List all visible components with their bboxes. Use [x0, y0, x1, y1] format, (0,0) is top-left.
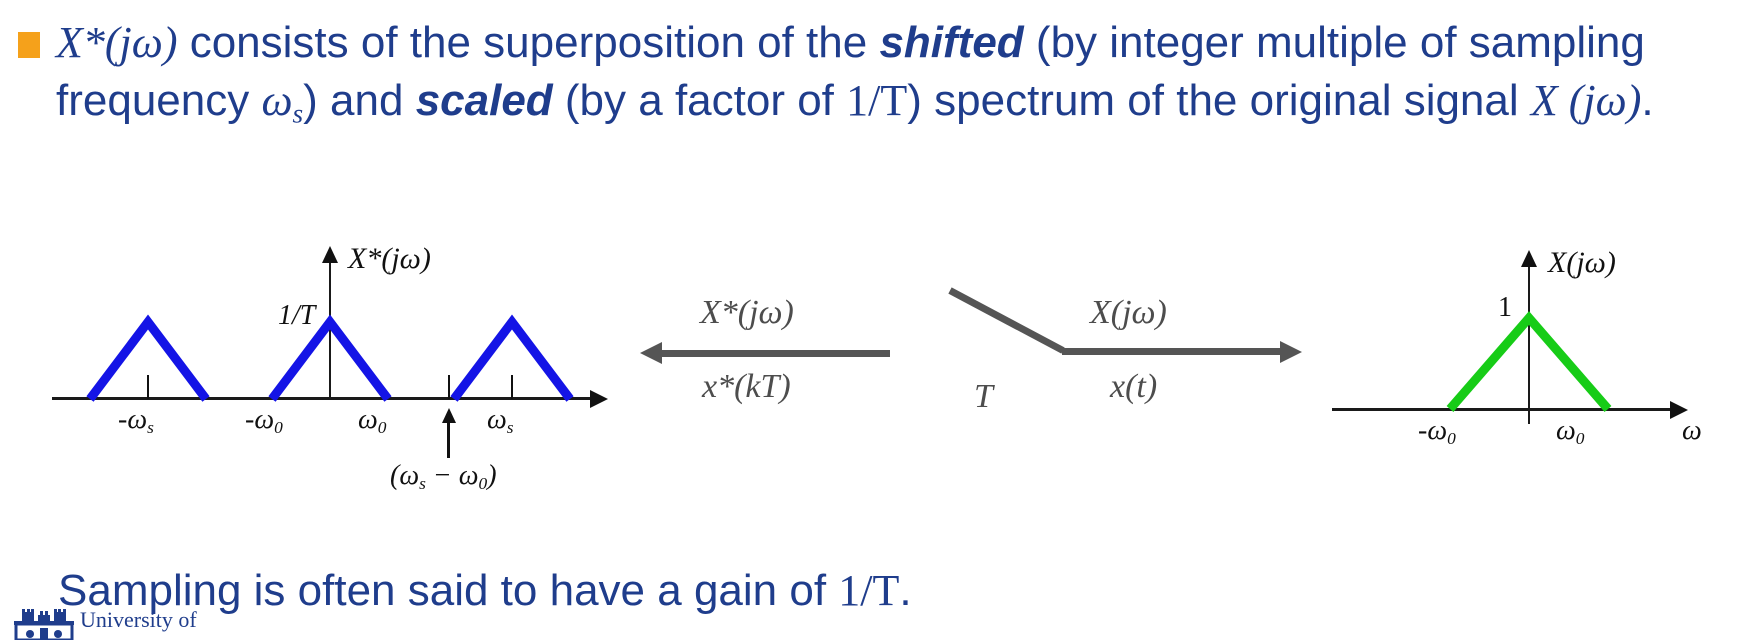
bullet-seg-omega: ω: [261, 76, 292, 125]
bullet-seg-xstar: X*(jω): [56, 18, 177, 67]
right-chart-y-axis-arrowhead: [1521, 250, 1537, 267]
bullet-seg-scaled: scaled: [416, 76, 553, 125]
bullet-seg-oneoverT: 1/T: [846, 76, 907, 125]
right-chart-x-axis-label: ω: [1682, 415, 1702, 447]
right-chart-xtick-neg-w0: -ω0: [1418, 415, 1456, 449]
closing-text-after: .: [899, 566, 911, 615]
bullet-seg-8: (by a factor of: [553, 76, 846, 125]
left-chart-traces: [40, 252, 610, 404]
right-chart-title: X(jω): [1548, 246, 1616, 280]
sampler-period-label: T: [974, 378, 993, 416]
castle-icon: [14, 604, 74, 640]
annotation-label-ws-minus-w0: (ωs − ω0): [390, 460, 497, 494]
left-chart-xtick-neg-w0: -ω0: [245, 404, 283, 438]
annotation-arrow-stem: [447, 422, 450, 458]
left-chart-xtick-ws: ωs: [487, 404, 514, 438]
right-arrow-bottom-label: x(t): [1110, 368, 1157, 406]
slide-canvas: X*(jω) consists of the superposition of …: [0, 0, 1750, 644]
right-chart-xtick-w0: ω0: [1556, 415, 1584, 449]
left-arrow-bottom-label: x*(kT): [702, 368, 791, 406]
bullet-seg-6: ) and: [303, 76, 416, 125]
left-chart-tick-neg-ws: [147, 375, 149, 399]
left-chart-xtick-neg-ws: -ωs: [118, 404, 154, 438]
closing-gain: 1/T: [838, 566, 899, 615]
logo-text-line1: University of: [80, 610, 197, 630]
left-arrow-shaft: [660, 350, 890, 357]
bullet-seg-12: .: [1641, 76, 1653, 125]
right-arrow-top-label: X(jω): [1090, 294, 1167, 332]
right-chart-traces: [1400, 292, 1670, 414]
bullet-seg-omega-sub: s: [293, 99, 304, 129]
annotation-arrowhead: [442, 408, 456, 423]
figure-sampling-spectra: X*(jω) 1/T -ωs -ω0 ω0 ωs (ωs − ω0): [0, 232, 1750, 532]
left-arrow-head: [640, 342, 662, 364]
bullet-seg-xjw: X (jω): [1531, 76, 1641, 125]
left-chart-xtick-w0: ω0: [358, 404, 386, 438]
right-arrow-shaft: [1062, 348, 1282, 355]
trace-baseband: [272, 322, 388, 399]
university-logo: University of: [14, 604, 314, 644]
left-arrow-top-label: X*(jω): [700, 294, 794, 332]
left-chart-tick-ws: [511, 375, 513, 399]
bullet-seg-shifted: shifted: [879, 18, 1023, 67]
bullet-seg-2: consists of the superposition of the: [177, 18, 879, 67]
left-chart-tick-ws-minus-w0: [448, 375, 450, 399]
right-arrow-head: [1280, 341, 1302, 363]
trace-baseband-original: [1450, 318, 1608, 409]
bullet-seg-10: ) spectrum of the original signal: [907, 76, 1531, 125]
bullet-marker-square: [18, 32, 40, 58]
bullet-paragraph: X*(jω) consists of the superposition of …: [56, 14, 1716, 143]
sampler-switch-blade: [948, 287, 1064, 353]
